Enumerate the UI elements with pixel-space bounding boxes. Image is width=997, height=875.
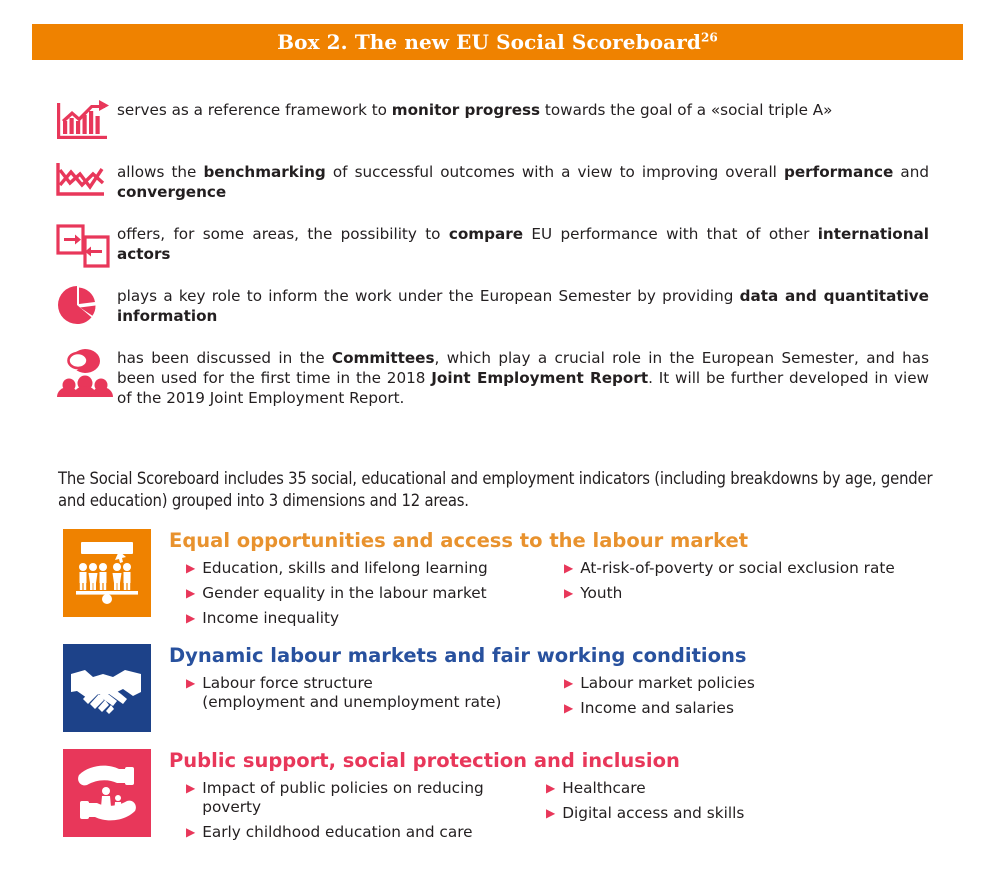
- feature-item: has been discussed in the Committees, wh…: [55, 345, 935, 408]
- list-item-label: Gender equality in the labour market: [202, 584, 486, 603]
- intro-paragraph: The Social Scoreboard includes 35 social…: [58, 468, 938, 512]
- feature-text: plays a key role to inform the work unde…: [117, 283, 929, 327]
- triangle-bullet-icon: ▶: [564, 699, 573, 717]
- dimension-section-dynamic-labour-markets: Dynamic labour markets and fair working …: [63, 644, 924, 732]
- list-item[interactable]: ▶Digital access and skills: [546, 804, 906, 823]
- list-item-label: Digital access and skills: [562, 804, 744, 823]
- dimension-title: Dynamic labour markets and fair working …: [169, 645, 924, 666]
- footnote-marker: 26: [701, 30, 718, 44]
- list-item[interactable]: ▶Education, skills and lifelong learning: [186, 559, 564, 578]
- triangle-bullet-icon: ▶: [564, 584, 573, 602]
- box-header-bar: Box 2. The new EU Social Scoreboard26: [32, 24, 963, 60]
- bar-chart-growth-icon: [55, 97, 117, 145]
- dimension-right-column: ▶At-risk-of-poverty or social exclusion …: [564, 559, 924, 633]
- pie-chart-icon: [55, 283, 117, 331]
- dimension-columns: ▶Impact of public policies on reducing p…: [186, 779, 906, 847]
- triangle-bullet-icon: ▶: [546, 779, 555, 797]
- triangle-bullet-icon: ▶: [186, 823, 195, 841]
- list-item-label: Education, skills and lifelong learning: [202, 559, 488, 578]
- dimension-title: Public support, social protection and in…: [169, 750, 906, 771]
- list-item[interactable]: ▶Healthcare: [546, 779, 906, 798]
- dimension-body: Dynamic labour markets and fair working …: [169, 644, 924, 724]
- dimension-title: Equal opportunities and access to the la…: [169, 530, 924, 551]
- feature-item: serves as a reference framework to monit…: [55, 97, 935, 145]
- list-item-label: Early childhood education and care: [202, 823, 472, 842]
- list-item-label: Youth: [580, 584, 622, 603]
- dimension-right-column: ▶Labour market policies ▶Income and sala…: [564, 674, 924, 723]
- dimension-left-column: ▶Impact of public policies on reducing p…: [186, 779, 546, 847]
- triangle-bullet-icon: ▶: [186, 779, 195, 797]
- list-item[interactable]: ▶Youth: [564, 584, 924, 603]
- feature-text: has been discussed in the Committees, wh…: [117, 345, 929, 408]
- dimension-right-column: ▶Healthcare ▶Digital access and skills: [546, 779, 906, 847]
- page-title: Box 2. The new EU Social Scoreboard26: [277, 30, 718, 54]
- triangle-bullet-icon: ▶: [546, 804, 555, 822]
- triangle-bullet-icon: ▶: [564, 559, 573, 577]
- list-item-label: Labour market policies: [580, 674, 755, 693]
- list-item[interactable]: ▶Labour force structure (employment and …: [186, 674, 564, 711]
- triangle-bullet-icon: ▶: [186, 674, 195, 692]
- page-title-text: Box 2. The new EU Social Scoreboard: [277, 30, 701, 54]
- feature-item: offers, for some areas, the possibility …: [55, 221, 935, 269]
- list-item[interactable]: ▶Labour market policies: [564, 674, 924, 693]
- dimension-left-column: ▶Labour force structure (employment and …: [186, 674, 564, 723]
- list-item[interactable]: ▶Early childhood education and care: [186, 823, 546, 842]
- feature-text: allows the benchmarking of successful ou…: [117, 159, 929, 203]
- list-item-label: Impact of public policies on reducing po…: [202, 779, 546, 816]
- list-item[interactable]: ▶At-risk-of-poverty or social exclusion …: [564, 559, 924, 578]
- equality-scale-icon: [63, 529, 151, 617]
- committee-people-icon: [55, 345, 117, 393]
- triangle-bullet-icon: ▶: [564, 674, 573, 692]
- list-item-label: At-risk-of-poverty or social exclusion r…: [580, 559, 895, 578]
- dimension-columns: ▶Education, skills and lifelong learning…: [186, 559, 924, 633]
- feature-list: serves as a reference framework to monit…: [55, 97, 935, 422]
- handshake-icon: [63, 644, 151, 732]
- list-item[interactable]: ▶Income and salaries: [564, 699, 924, 718]
- dimension-columns: ▶Labour force structure (employment and …: [186, 674, 924, 723]
- triangle-bullet-icon: ▶: [186, 609, 195, 627]
- feature-item: allows the benchmarking of successful ou…: [55, 159, 935, 207]
- dimension-body: Public support, social protection and in…: [169, 749, 906, 847]
- protecting-hands-icon: [63, 749, 151, 837]
- feature-text: offers, for some areas, the possibility …: [117, 221, 929, 265]
- list-item-label: Healthcare: [562, 779, 645, 798]
- dimension-left-column: ▶Education, skills and lifelong learning…: [186, 559, 564, 633]
- compare-exchange-icon: [55, 221, 117, 269]
- list-item-label: Income inequality: [202, 609, 339, 628]
- list-item[interactable]: ▶Impact of public policies on reducing p…: [186, 779, 546, 816]
- line-chart-benchmark-icon: [55, 159, 117, 207]
- dimension-section-public-support: Public support, social protection and in…: [63, 749, 906, 847]
- dimension-body: Equal opportunities and access to the la…: [169, 529, 924, 633]
- triangle-bullet-icon: ▶: [186, 584, 195, 602]
- triangle-bullet-icon: ▶: [186, 559, 195, 577]
- dimension-section-equal-opportunities: Equal opportunities and access to the la…: [63, 529, 924, 633]
- list-item[interactable]: ▶Gender equality in the labour market: [186, 584, 564, 603]
- list-item-label: Income and salaries: [580, 699, 734, 718]
- list-item[interactable]: ▶Income inequality: [186, 609, 564, 628]
- list-item-label: Labour force structure (employment and u…: [202, 674, 501, 711]
- feature-item: plays a key role to inform the work unde…: [55, 283, 935, 331]
- feature-text: serves as a reference framework to monit…: [117, 97, 929, 121]
